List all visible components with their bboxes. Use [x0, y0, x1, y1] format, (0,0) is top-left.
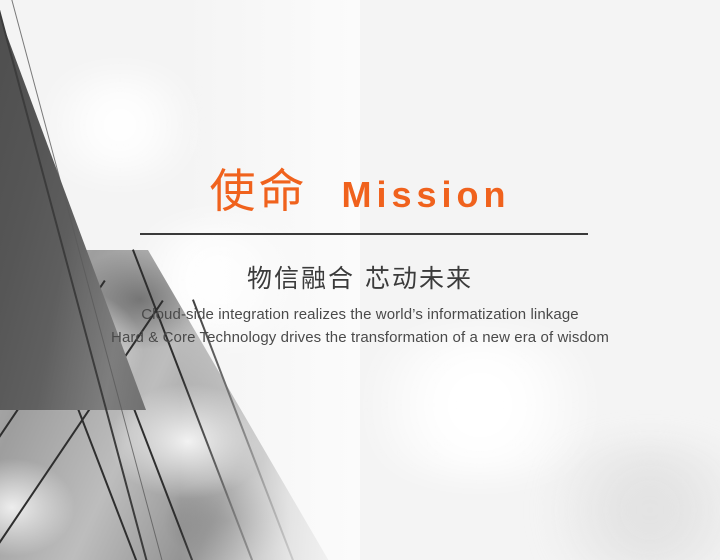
- mission-banner: 使命 Mission 物信融合 芯动未来 Cloud-side integrat…: [0, 0, 720, 560]
- description-block: Cloud-side integration realizes the worl…: [0, 303, 720, 349]
- title-row: 使命 Mission: [0, 168, 720, 214]
- title-divider: [140, 233, 588, 235]
- description-line-2: Hard & Core Technology drives the transf…: [0, 326, 720, 349]
- description-line-1: Cloud-side integration realizes the worl…: [0, 303, 720, 326]
- page-title-chinese: 使命: [209, 168, 307, 214]
- subtitle-slogan: 物信融合 芯动未来: [0, 259, 720, 295]
- banner-content: 使命 Mission 物信融合 芯动未来 Cloud-side integrat…: [0, 0, 720, 560]
- page-title-english: Mission: [341, 177, 510, 213]
